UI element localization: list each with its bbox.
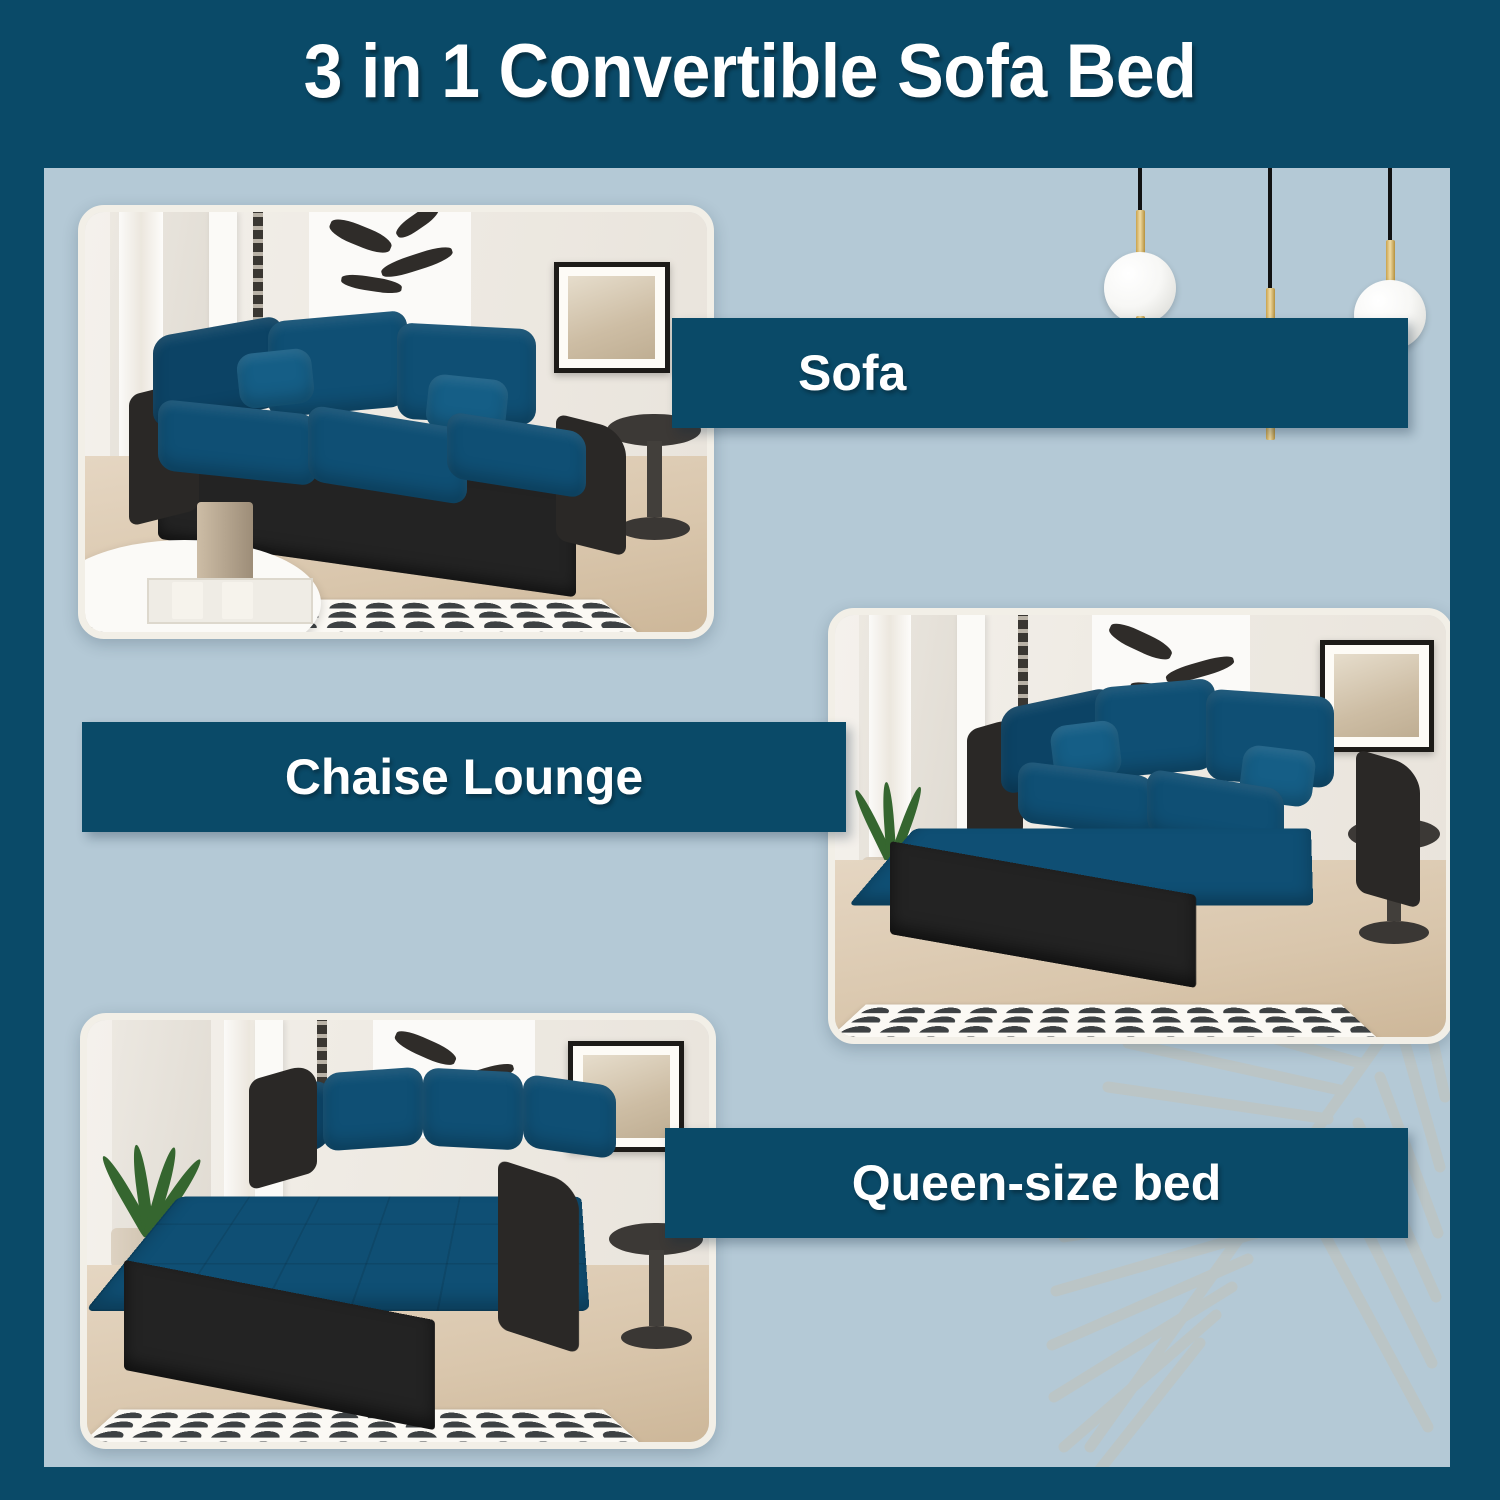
side-table bbox=[609, 1223, 702, 1350]
queen-bed-photo bbox=[80, 1013, 716, 1449]
label-bar-queen: Queen-size bed bbox=[665, 1128, 1408, 1238]
label-bar-chaise: Chaise Lounge bbox=[82, 722, 846, 832]
content-panel: Sofa Chaise Lounge Queen-size bed bbox=[44, 168, 1450, 1467]
sofa-photo bbox=[78, 205, 714, 639]
label-sofa: Sofa bbox=[798, 344, 906, 402]
label-bar-sofa: Sofa bbox=[672, 318, 1408, 428]
bed-back-arm bbox=[249, 1061, 317, 1190]
candle bbox=[172, 582, 203, 620]
label-queen-size-bed: Queen-size bed bbox=[852, 1154, 1222, 1212]
page-title: 3 in 1 Convertible Sofa Bed bbox=[60, 28, 1440, 115]
chaise-photo bbox=[828, 608, 1450, 1044]
label-chaise-lounge: Chaise Lounge bbox=[285, 748, 643, 806]
infographic-page: 3 in 1 Convertible Sofa Bed bbox=[0, 0, 1500, 1500]
beaded-lamp bbox=[253, 212, 263, 330]
bed-backrest bbox=[261, 1062, 647, 1189]
bed-side-arm bbox=[498, 1159, 579, 1354]
candle bbox=[222, 582, 253, 620]
